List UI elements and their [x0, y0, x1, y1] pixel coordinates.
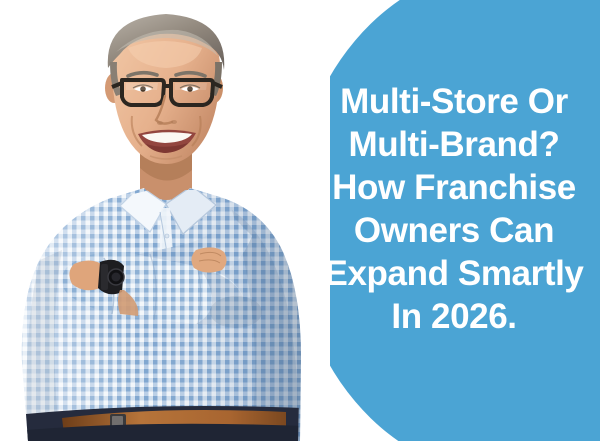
banner-root: Multi-Store Or Multi-Brand? How Franchis…: [0, 0, 600, 441]
headline-line-5: Expand Smartly: [312, 252, 596, 295]
headline-line-3: How Franchise: [312, 166, 596, 209]
headline: Multi-Store Or Multi-Brand? How Franchis…: [312, 80, 596, 338]
man-portrait-photo: [0, 0, 330, 441]
headline-line-4: Owners Can: [312, 209, 596, 252]
headline-line-2: Multi-Brand?: [312, 123, 596, 166]
headline-line-1: Multi-Store Or: [312, 80, 596, 123]
headline-line-6: In 2026.: [312, 295, 596, 338]
